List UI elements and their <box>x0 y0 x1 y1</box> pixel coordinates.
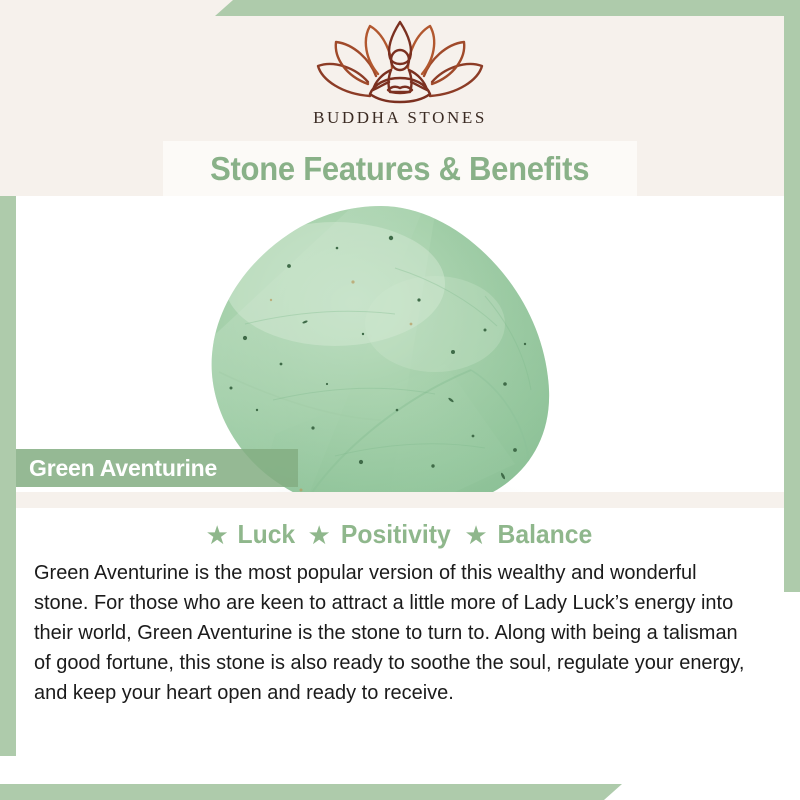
benefits-row: ★ Luck ★ Positivity ★ Balance <box>0 508 800 550</box>
star-icon: ★ <box>464 522 487 548</box>
page-title: Stone Features & Benefits <box>210 150 589 188</box>
star-icon: ★ <box>308 522 331 548</box>
benefit-label-positivity: Positivity <box>341 519 451 550</box>
stone-name-label: Green Aventurine <box>16 455 217 482</box>
stone-description-text: Green Aventurine is the most popular ver… <box>34 558 755 708</box>
star-icon: ★ <box>206 522 229 548</box>
brand-logo: BUDDHA STONES <box>0 18 800 128</box>
stone-photo-area <box>0 196 800 492</box>
benefit-item-luck: ★ Luck <box>206 519 297 550</box>
section-title-band: Stone Features & Benefits <box>163 141 637 196</box>
benefit-label-luck: Luck <box>237 519 295 550</box>
brand-name: BUDDHA STONES <box>313 108 487 128</box>
divider-strip <box>0 492 800 508</box>
description-section: ★ Luck ★ Positivity ★ Balance Green Aven… <box>0 508 800 800</box>
benefit-item-positivity: ★ Positivity <box>308 519 454 550</box>
benefit-label-balance: Balance <box>497 519 592 550</box>
stone-name-banner: Green Aventurine <box>16 449 298 487</box>
lotus-meditation-icon <box>312 18 488 104</box>
benefit-item-balance: ★ Balance <box>464 519 594 550</box>
